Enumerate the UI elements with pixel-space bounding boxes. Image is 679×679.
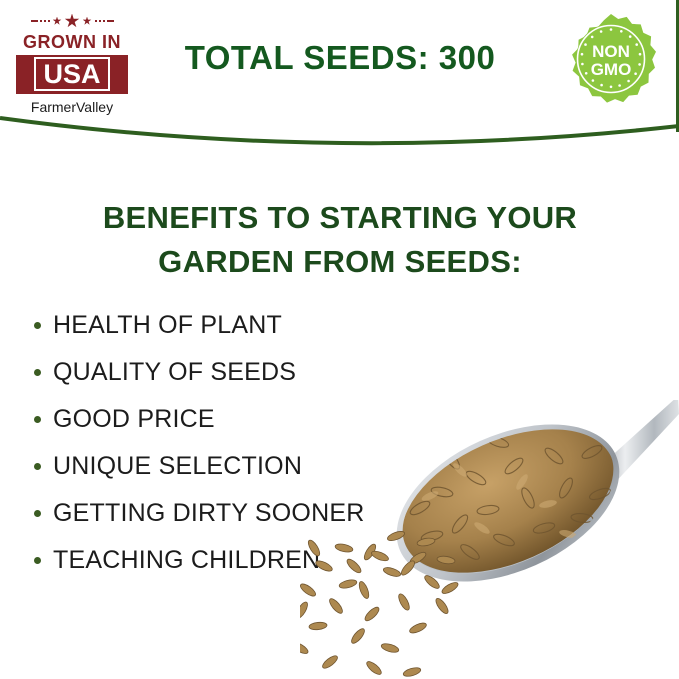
list-item: QUALITY OF SEEDS <box>34 349 454 396</box>
curved-divider <box>0 96 679 176</box>
stars-banner-icon <box>16 12 128 30</box>
product-infographic: GROWN IN USA FarmerValley TOTAL SEEDS: 3… <box>0 0 679 679</box>
benefit-label: TEACHING CHILDREN <box>53 546 320 575</box>
benefit-label: HEALTH OF PLANT <box>53 311 282 340</box>
non-gmo-line1: NON <box>592 42 630 61</box>
total-seeds-title: TOTAL SEEDS: 300 <box>140 38 540 78</box>
non-gmo-line2: GMO <box>591 60 632 79</box>
star-small-right-icon <box>83 17 92 26</box>
logo-usa-box: USA <box>16 55 128 94</box>
benefits-heading-line2: GARDEN FROM SEEDS: <box>40 240 640 284</box>
bullet-dot-icon <box>34 557 41 564</box>
logo-grown-in-text: GROWN IN <box>16 31 128 53</box>
header-panel: GROWN IN USA FarmerValley TOTAL SEEDS: 3… <box>0 0 679 135</box>
bullet-dot-icon <box>34 463 41 470</box>
bullet-dot-icon <box>34 510 41 517</box>
bullet-dot-icon <box>34 369 41 376</box>
bullet-dot-icon <box>34 416 41 423</box>
bullet-dot-icon <box>34 322 41 329</box>
star-large-center-icon <box>65 14 80 29</box>
benefit-label: UNIQUE SELECTION <box>53 452 302 481</box>
benefits-heading: BENEFITS TO STARTING YOUR GARDEN FROM SE… <box>40 196 640 284</box>
benefit-label: GOOD PRICE <box>53 405 215 434</box>
benefits-heading-line1: BENEFITS TO STARTING YOUR <box>40 196 640 240</box>
benefit-label: QUALITY OF SEEDS <box>53 358 296 387</box>
dash-left-icon <box>31 20 50 22</box>
logo-usa-text: USA <box>34 57 109 91</box>
spoon-of-seeds-photo <box>300 400 679 679</box>
non-gmo-badge: NON GMO <box>565 13 657 105</box>
list-item: HEALTH OF PLANT <box>34 302 454 349</box>
star-small-left-icon <box>53 17 62 26</box>
dash-right-icon <box>95 20 114 22</box>
